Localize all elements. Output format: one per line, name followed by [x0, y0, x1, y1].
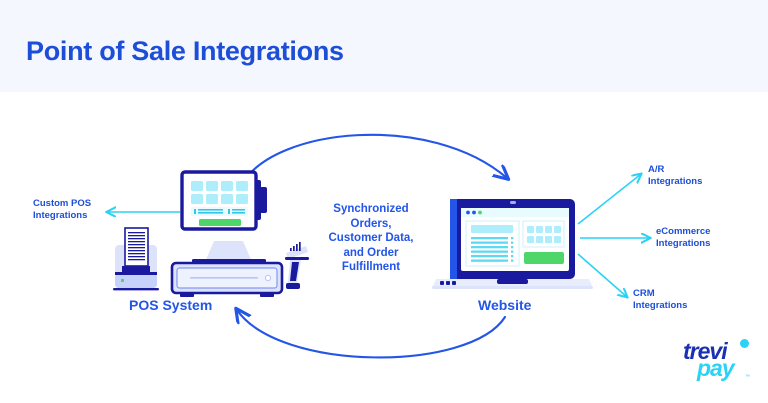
- label-crm-integrations: CRM Integrations: [633, 288, 687, 312]
- crm-arrow: [578, 254, 627, 297]
- sync-arrow-bottom: [237, 310, 505, 357]
- logo-text-pay: pay: [697, 357, 734, 380]
- sync-center-text: Synchronized Orders, Customer Data, and …: [305, 202, 437, 275]
- trevipay-logo: trevi pay ™: [683, 340, 755, 390]
- logo-trademark: ™: [745, 374, 750, 380]
- ar-arrow: [578, 174, 641, 224]
- label-ar-integrations: A/R Integrations: [648, 164, 702, 188]
- pos-system-illustration: [113, 172, 309, 297]
- sync-arrow-top: [243, 135, 507, 183]
- website-laptop-illustration: [432, 199, 593, 289]
- label-ecommerce-integrations: eCommerce Integrations: [656, 226, 710, 250]
- label-website: Website: [478, 297, 531, 313]
- label-custom-pos-integrations: Custom POS Integrations: [33, 198, 91, 222]
- logo-dot-icon: [740, 339, 749, 348]
- slide-canvas: Point of Sale Integrations: [0, 0, 768, 403]
- label-pos-system: POS System: [129, 297, 212, 313]
